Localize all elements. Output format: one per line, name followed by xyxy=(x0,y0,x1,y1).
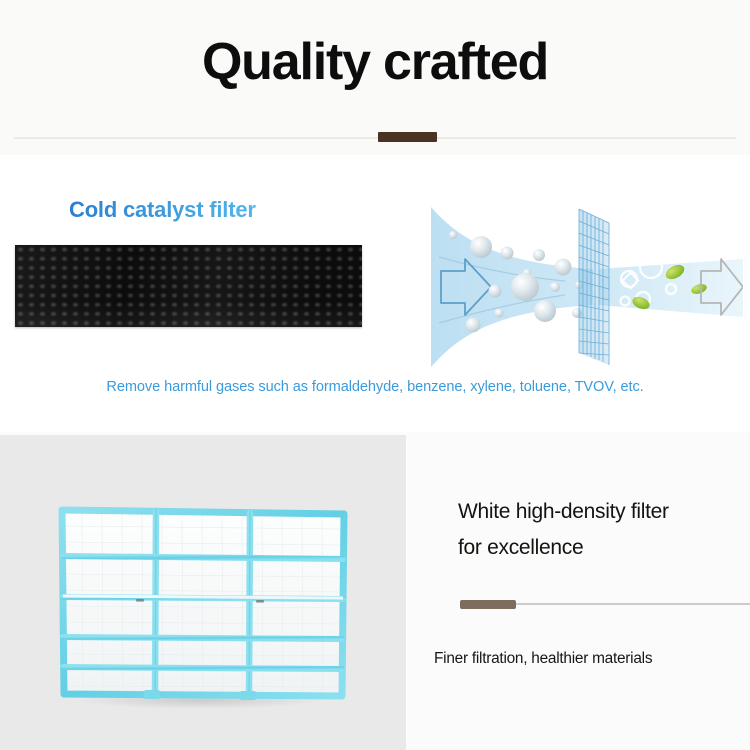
honeycomb-carbon-filter-panel xyxy=(15,245,362,327)
cold-catalyst-section: Cold catalyst filter xyxy=(0,155,750,432)
header-section: Quality crafted xyxy=(0,0,750,155)
white-filter-heading-line1: White high-density filter xyxy=(458,500,669,523)
header-divider-rule xyxy=(14,137,736,139)
page-title: Quality crafted xyxy=(0,36,750,88)
cold-catalyst-title: Cold catalyst filter xyxy=(69,197,256,223)
white-filter-text-pane: White high-density filter for excellence… xyxy=(406,432,750,750)
cold-catalyst-caption: Remove harmful gases such as formaldehyd… xyxy=(0,379,750,395)
white-filter-divider xyxy=(460,603,750,606)
white-high-density-filter xyxy=(48,500,358,710)
header-accent-bar xyxy=(378,132,437,142)
white-filter-image-pane xyxy=(0,435,406,750)
airflow-purification-diagram xyxy=(403,207,743,367)
divider-line-segment xyxy=(516,603,750,605)
divider-accent-segment xyxy=(460,600,516,609)
white-filter-section: White high-density filter for excellence… xyxy=(0,432,750,750)
white-filter-subcaption: Finer filtration, healthier materials xyxy=(434,650,652,668)
white-filter-heading: White high-density filter for excellence xyxy=(458,494,748,566)
white-filter-heading-line2: for excellence xyxy=(458,536,583,559)
infographic-page: Quality crafted Cold catalyst filter xyxy=(0,0,750,750)
mesh-filter-panel xyxy=(579,209,609,365)
